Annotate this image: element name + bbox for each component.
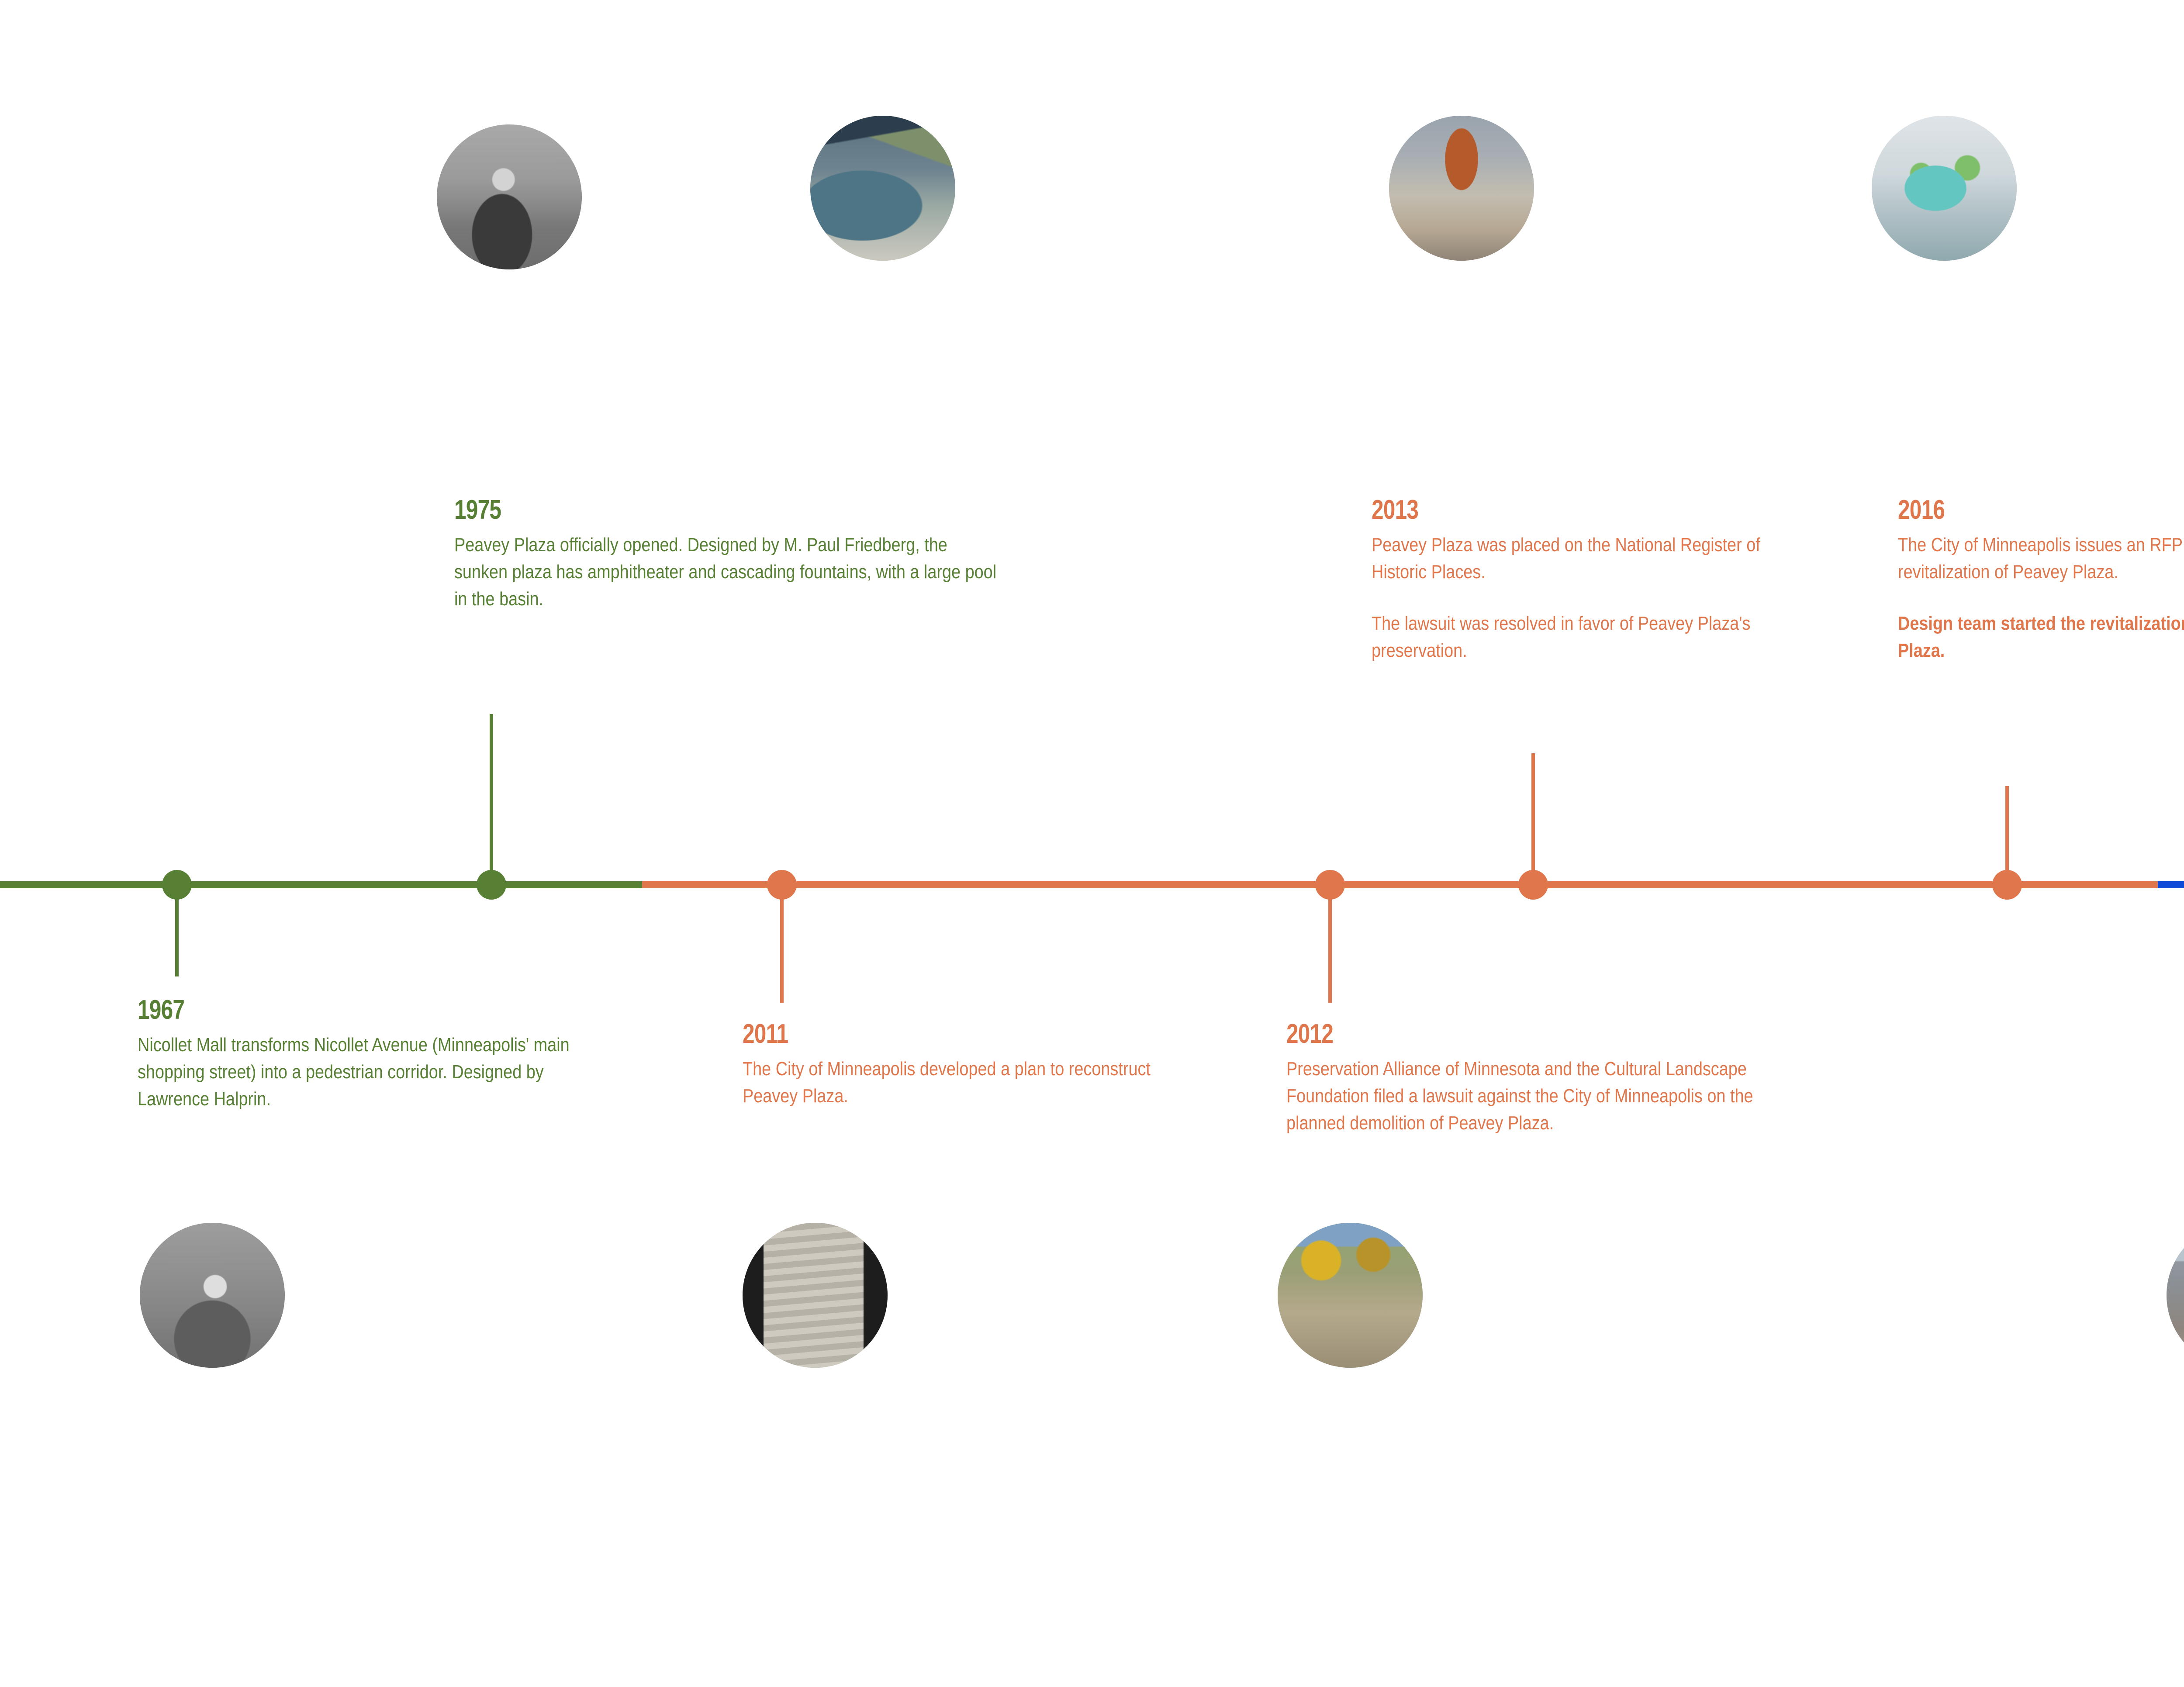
stem-2011 xyxy=(780,885,784,1003)
event-text-1975: Peavey Plaza officially opened. Designed… xyxy=(454,531,999,613)
stem-1975 xyxy=(490,714,493,887)
event-block-1975: 1975 Peavey Plaza officially opened. Des… xyxy=(454,496,1219,613)
event-text-1967: Nicollet Mall transforms Nicollet Avenue… xyxy=(138,1032,581,1113)
photo-image xyxy=(1278,1223,1423,1368)
spacer xyxy=(1372,586,1852,610)
event-block-1967: 1967 Nicollet Mall transforms Nicollet A… xyxy=(138,996,640,1113)
timeline-dot-1975[interactable] xyxy=(477,870,506,900)
axis-segment-green xyxy=(0,881,642,888)
photo-plaza-aerial-1975 xyxy=(810,116,955,261)
event-text-2016-p1: The City of Minneapolis issues an RFP fo… xyxy=(1898,531,2184,586)
event-text-2013-p2: The lawsuit was resolved in favor of Pea… xyxy=(1372,610,1770,664)
timeline-dot-2012[interactable] xyxy=(1315,870,1345,900)
photo-image xyxy=(810,116,955,261)
stem-2012 xyxy=(1328,885,1332,1003)
event-block-2013: 2013 Peavey Plaza was placed on the Nati… xyxy=(1372,496,1852,664)
photo-image xyxy=(743,1223,888,1368)
photo-plaza-steps xyxy=(743,1223,888,1368)
event-text-2011: The City of Minneapolis developed a plan… xyxy=(743,1056,1160,1110)
stem-2013 xyxy=(1531,753,1535,887)
event-text-2013-p1: Peavey Plaza was placed on the National … xyxy=(1372,531,1770,586)
photo-lawrence-halprin xyxy=(140,1223,285,1368)
event-block-2016: 2016 The City of Minneapolis issues an R… xyxy=(1898,496,2184,664)
timeline-dot-2016[interactable] xyxy=(1992,870,2022,900)
timeline-dot-2013[interactable] xyxy=(1518,870,1548,900)
event-block-2012: 2012 Preservation Alliance of Minnesota … xyxy=(1286,1020,1889,1137)
photo-image xyxy=(140,1223,285,1368)
spacer xyxy=(1898,586,2184,610)
photo-image xyxy=(2167,1223,2184,1368)
photo-image xyxy=(437,124,582,269)
event-text-2016-bold: Design team started the revitalization o… xyxy=(1898,610,2184,664)
event-year-2013: 2013 xyxy=(1372,496,1756,524)
event-block-2011: 2011 The City of Minneapolis developed a… xyxy=(743,1020,1232,1110)
photo-community-crowd xyxy=(2167,1223,2184,1368)
photo-image xyxy=(1872,116,2017,261)
timeline-axis xyxy=(0,881,2184,888)
event-year-2011: 2011 xyxy=(743,1020,1134,1049)
axis-segment-orange xyxy=(642,881,2158,888)
photo-m-paul-friedberg xyxy=(437,124,582,269)
timeline-infographic: 1975 Peavey Plaza officially opened. Des… xyxy=(0,0,2184,1687)
timeline-dot-2011[interactable] xyxy=(767,870,797,900)
event-year-2016: 2016 xyxy=(1898,496,2184,524)
photo-plaza-autumn xyxy=(1278,1223,1423,1368)
event-text-2012: Preservation Alliance of Minnesota and t… xyxy=(1286,1056,1808,1137)
event-year-2012: 2012 xyxy=(1286,1020,1769,1049)
photo-peavey-fountain xyxy=(1389,116,1534,261)
event-year-1967: 1967 xyxy=(138,996,539,1025)
axis-segment-blue xyxy=(2158,881,2184,888)
photo-design-rendering xyxy=(1872,116,2017,261)
photo-image xyxy=(1389,116,1534,261)
timeline-dot-1967[interactable] xyxy=(162,870,192,900)
event-year-1975: 1975 xyxy=(454,496,1066,524)
